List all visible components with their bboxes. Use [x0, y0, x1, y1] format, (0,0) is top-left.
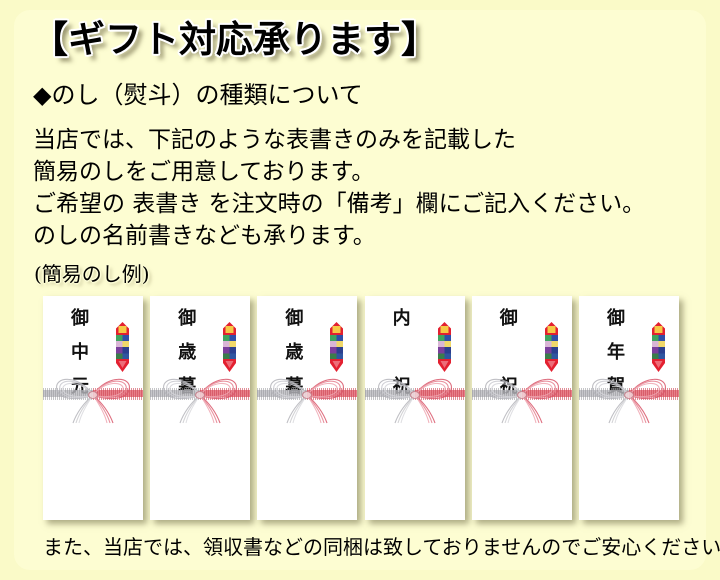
body-line-3: ご希望の 表書き を注文時の「備考」欄にご記入ください。 — [33, 188, 645, 220]
noshi-sample-card: 御中元 — [43, 296, 143, 520]
noshi-label-char: 御 — [178, 310, 196, 328]
footer-note: また、当店では、領収書などの同梱は致しておりませんのでご安心ください。 — [43, 533, 720, 561]
mizuhiki-bow-icon — [150, 364, 250, 426]
page-title: 【ギフト対応承ります】 — [31, 16, 438, 62]
noshi-sample-card: 御歳暮 — [150, 296, 250, 520]
noshi-label-char: 御 — [285, 310, 303, 328]
noshi-sample-card: 御歳暮 — [257, 296, 357, 520]
noshi-label-char: 内 — [393, 310, 411, 328]
noshi-label-char: 年 — [607, 344, 625, 362]
noshi-sample-list: 御中元御歳暮御歳暮内祝御祝御年賀 — [43, 296, 679, 522]
section-subheading: ◆のし（熨斗）の種類について — [33, 79, 363, 111]
body-line-2: 簡易のしをご用意しております。 — [33, 156, 645, 188]
samples-caption: (簡易のし例) — [34, 261, 150, 287]
noshi-sample-card: 御祝 — [472, 296, 572, 520]
noshi-sample-card: 内祝 — [365, 296, 465, 520]
noshi-label-char: 中 — [71, 344, 89, 362]
noshi-label-char: 御 — [500, 310, 518, 328]
noshi-label-char: 御 — [71, 310, 89, 328]
body-line-4: のしの名前書きなども承ります。 — [33, 220, 645, 252]
noshi-label-char: 歳 — [178, 344, 196, 362]
noshi-label-char: 御 — [607, 310, 625, 328]
content-area: 【ギフト対応承ります】 ◆のし（熨斗）の種類について 当店では、下記のような表書… — [0, 0, 720, 580]
mizuhiki-bow-icon — [472, 364, 572, 426]
body-paragraph: 当店では、下記のような表書きのみを記載した 簡易のしをご用意しております。 ご希… — [33, 124, 645, 252]
noshi-sample-card: 御年賀 — [579, 296, 679, 520]
mizuhiki-bow-icon — [579, 364, 679, 426]
noshi-label-char: 歳 — [285, 344, 303, 362]
body-line-1: 当店では、下記のような表書きのみを記載した — [33, 124, 645, 156]
mizuhiki-bow-icon — [43, 364, 143, 426]
mizuhiki-bow-icon — [365, 364, 465, 426]
gift-wrapping-info-page: 【ギフト対応承ります】 ◆のし（熨斗）の種類について 当店では、下記のような表書… — [0, 0, 720, 580]
mizuhiki-bow-icon — [257, 364, 357, 426]
